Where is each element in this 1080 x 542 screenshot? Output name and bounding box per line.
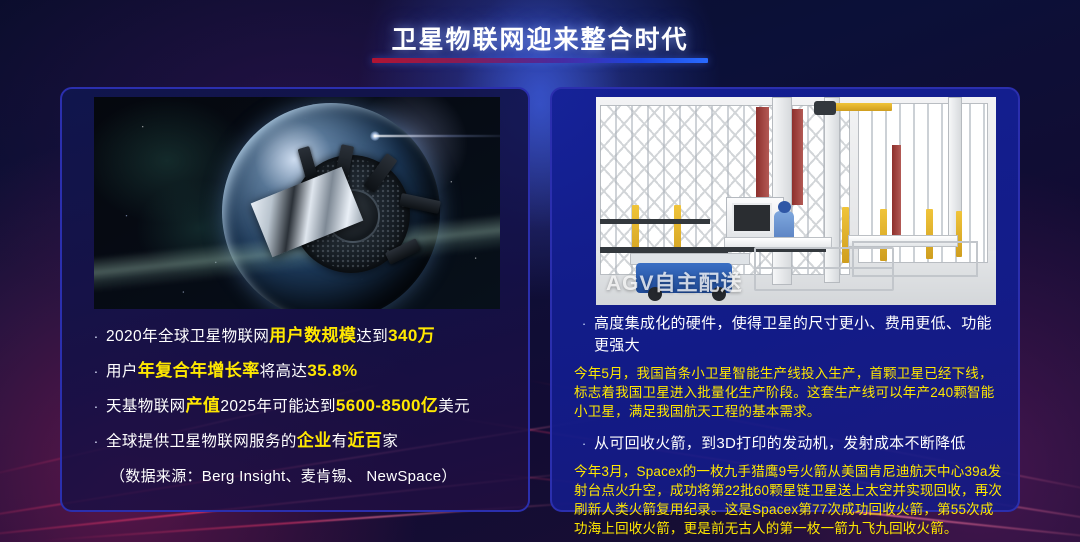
list-item: · 用户年复合年增长率将高达35.8% — [86, 360, 510, 383]
bullet-text: 全球提供卫星物联网服务的企业有近百家 — [106, 430, 398, 453]
supporting-paragraph: 今年3月，Spacex的一枚九手猎鹰9号火箭从美国肯尼迪航天中心39a发射台点火… — [574, 462, 1004, 538]
data-source-note: （数据来源：Berg Insight、麦肯锡、 NewSpace） — [110, 465, 510, 486]
title-underline-rule — [372, 58, 707, 63]
list-item: · 高度集成化的硬件，使得卫星的尺寸更小、费用更低、功能更强大 — [574, 313, 1004, 357]
bullet-marker: · — [574, 433, 594, 455]
worker-head — [778, 201, 791, 213]
slide-title: 卫星物联网迎来整合时代 — [385, 20, 694, 62]
bullet-segment: 有 — [332, 433, 348, 450]
monitor-screen — [732, 203, 772, 233]
bullet-text: 天基物联网产值2025年可能达到5600-8500亿美元 — [106, 395, 470, 418]
slide-title-text: 卫星物联网迎来整合时代 — [391, 26, 688, 54]
left-bullet-list: · 2020年全球卫星物联网用户数规模达到340万 · 用户年复合年增长率将高达… — [86, 325, 510, 486]
bullet-segment: 美元 — [438, 398, 470, 415]
bullet-highlight: 5600-8500亿 — [336, 396, 438, 415]
bullet-segment: 全球提供卫星物联网服务的 — [106, 433, 297, 450]
bullet-marker: · — [574, 313, 594, 335]
lens-flare-streak — [374, 135, 500, 137]
bullet-highlight: 340万 — [388, 326, 435, 345]
left-content-panel: · 2020年全球卫星物联网用户数规模达到340万 · 用户年复合年增长率将高达… — [60, 87, 530, 512]
satellite-orbiting-earth-photo — [94, 97, 500, 309]
bullet-text: 从可回收火箭，到3D打印的发动机，发射成本不断降低 — [594, 433, 966, 455]
rack-shelf-bar — [600, 219, 710, 224]
slide-canvas: 卫星物联网迎来整合时代 — [0, 0, 1080, 542]
bullet-highlight: 企业 — [297, 431, 332, 450]
bullet-highlight: 近百 — [348, 431, 383, 450]
list-item: · 全球提供卫星物联网服务的企业有近百家 — [86, 430, 510, 453]
bullet-segment: 用户 — [106, 363, 138, 380]
bullet-marker: · — [86, 395, 106, 417]
bullet-text: 高度集成化的硬件，使得卫星的尺寸更小、费用更低、功能更强大 — [594, 313, 1004, 357]
yellow-overhead-beam — [832, 103, 892, 111]
bullet-segment: 2020年全球卫星物联网 — [106, 328, 269, 345]
bullet-marker: · — [86, 360, 106, 382]
red-column — [892, 145, 901, 241]
slide-title-container: 卫星物联网迎来整合时代 — [0, 20, 1080, 62]
bullet-text: 2020年全球卫星物联网用户数规模达到340万 — [106, 325, 435, 348]
bullet-segment: 达到 — [356, 328, 388, 345]
supporting-paragraph: 今年5月，我国首条小卫星智能生产线投入生产，首颗卫星已经下线， 标志着我国卫星进… — [574, 364, 1004, 421]
bullet-highlight: 年复合年增长率 — [138, 361, 260, 380]
list-item: · 从可回收火箭，到3D打印的发动机，发射成本不断降低 — [574, 433, 1004, 455]
bullet-text: 用户年复合年增长率将高达35.8% — [106, 360, 358, 383]
bullet-highlight: 用户数规模 — [269, 326, 356, 345]
list-item: · 2020年全球卫星物联网用户数规模达到340万 — [86, 325, 510, 348]
list-item: · 天基物联网产值2025年可能达到5600-8500亿美元 — [86, 395, 510, 418]
bullet-highlight: 产值 — [186, 396, 221, 415]
bullet-marker: · — [86, 325, 106, 347]
photo-caption: AGV自主配送 — [606, 267, 743, 297]
bullet-segment: 家 — [382, 433, 398, 450]
satellite-structure — [244, 149, 434, 279]
right-content-list: · 高度集成化的硬件，使得卫星的尺寸更小、费用更低、功能更强大 今年5月，我国首… — [574, 313, 1004, 542]
bullet-segment: 天基物联网 — [106, 398, 186, 415]
safety-railing — [852, 241, 978, 277]
red-column — [792, 109, 803, 205]
overhead-fixture — [814, 101, 836, 115]
bullet-highlight: 35.8% — [307, 361, 357, 380]
bullet-segment: 将高达 — [260, 363, 308, 380]
right-content-panel: AGV自主配送 · 高度集成化的硬件，使得卫星的尺寸更小、费用更低、功能更强大 … — [550, 87, 1020, 512]
bullet-segment: 2025年可能达到 — [220, 398, 336, 415]
red-column — [756, 107, 769, 211]
bullet-marker: · — [86, 430, 106, 452]
satellite-factory-agv-photo: AGV自主配送 — [596, 97, 996, 305]
